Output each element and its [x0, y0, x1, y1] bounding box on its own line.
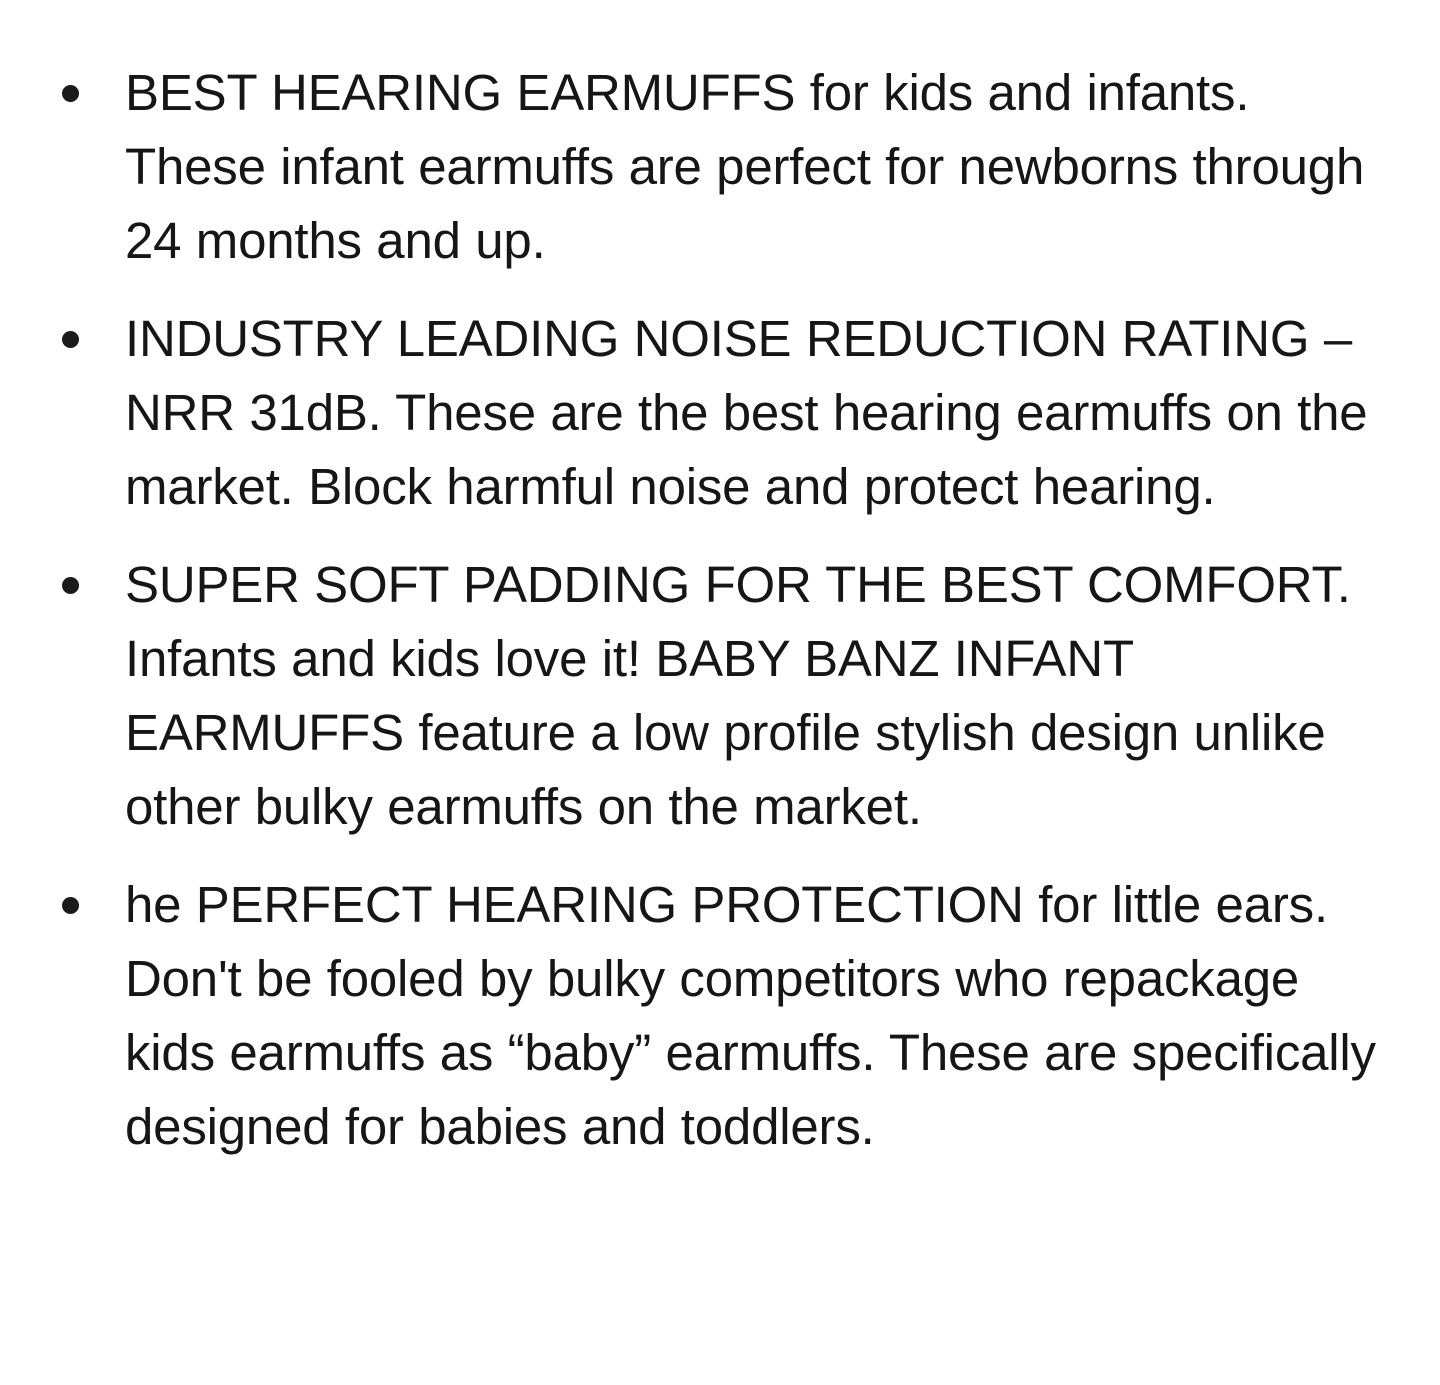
bullet-text: he PERFECT HEARING PROTECTION for little…: [125, 868, 1388, 1164]
bullet-dot-icon: [62, 548, 79, 622]
bullet-dot-icon: [62, 56, 79, 130]
list-item: BEST HEARING EARMUFFS for kids and infan…: [0, 56, 1440, 278]
bullet-text: SUPER SOFT PADDING FOR THE BEST COMFORT.…: [125, 548, 1388, 844]
bullet-dot-icon: [62, 302, 79, 376]
list-item: INDUSTRY LEADING NOISE REDUCTION RATING …: [0, 302, 1440, 524]
bullet-text: BEST HEARING EARMUFFS for kids and infan…: [125, 56, 1388, 278]
list-item: he PERFECT HEARING PROTECTION for little…: [0, 868, 1440, 1164]
bullet-dot-icon: [62, 868, 79, 942]
feature-bullets-list: BEST HEARING EARMUFFS for kids and infan…: [0, 0, 1440, 1164]
list-item: SUPER SOFT PADDING FOR THE BEST COMFORT.…: [0, 548, 1440, 844]
bullet-text: INDUSTRY LEADING NOISE REDUCTION RATING …: [125, 302, 1388, 524]
